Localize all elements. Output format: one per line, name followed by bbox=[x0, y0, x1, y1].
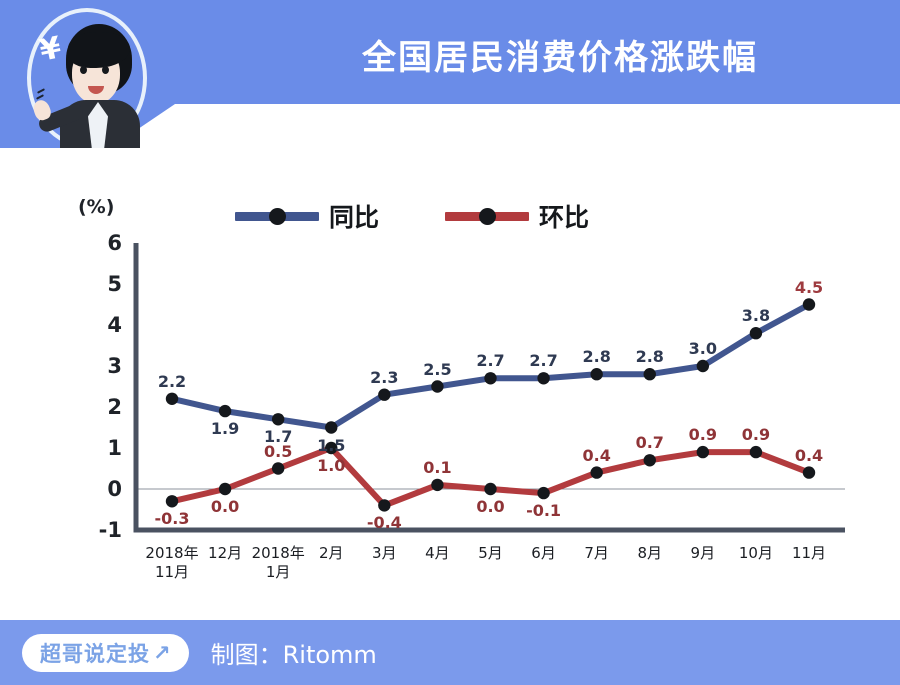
avatar-eye-left bbox=[80, 66, 87, 74]
footer-bar: 超哥说定投 ↗ 制图：Ritomm bbox=[0, 620, 900, 685]
data-label: 0.4 bbox=[569, 446, 625, 465]
y-axis-tick-label: 2 bbox=[78, 395, 122, 419]
data-label: 4.5 bbox=[781, 278, 837, 297]
data-label: 0.0 bbox=[197, 497, 253, 516]
page-title: 全国居民消费价格涨跌幅 bbox=[300, 30, 820, 79]
data-point[interactable] bbox=[166, 393, 178, 405]
data-point[interactable] bbox=[219, 483, 231, 495]
data-point[interactable] bbox=[537, 487, 549, 499]
data-point[interactable] bbox=[166, 495, 178, 507]
data-label: 0.0 bbox=[463, 497, 519, 516]
y-axis-tick-label: 3 bbox=[78, 354, 122, 378]
data-label: 1.5 bbox=[303, 436, 359, 455]
data-label: 1.9 bbox=[197, 419, 253, 438]
data-label: 0.9 bbox=[728, 425, 784, 444]
data-point[interactable] bbox=[590, 466, 602, 478]
data-point[interactable] bbox=[325, 421, 337, 433]
data-point[interactable] bbox=[272, 413, 284, 425]
data-label: 2.8 bbox=[622, 347, 678, 366]
data-point[interactable] bbox=[750, 327, 762, 339]
data-label: 2.7 bbox=[516, 351, 572, 370]
data-point[interactable] bbox=[378, 389, 390, 401]
data-point[interactable] bbox=[803, 298, 815, 310]
data-label: 0.5 bbox=[250, 442, 306, 461]
data-label: 2.2 bbox=[144, 372, 200, 391]
avatar-eye-right bbox=[102, 66, 109, 74]
y-axis-tick-label: -1 bbox=[78, 518, 122, 542]
data-label: 2.7 bbox=[463, 351, 519, 370]
header-banner: ¥ 全国居民消费价格涨跌幅 bbox=[0, 0, 900, 148]
data-label: 2.8 bbox=[569, 347, 625, 366]
arrow-up-right-icon: ↗ bbox=[153, 641, 171, 665]
data-point[interactable] bbox=[803, 466, 815, 478]
data-label: -0.4 bbox=[356, 513, 412, 532]
chart-container: (%) 同比 环比 2.21.91.71.52.32.52.72.72.82.8… bbox=[0, 148, 900, 608]
plot-area: 2.21.91.71.52.32.52.72.72.82.83.03.84.5-… bbox=[0, 148, 900, 608]
brand-badge-label: 超哥说定投 bbox=[40, 638, 150, 668]
data-point[interactable] bbox=[484, 372, 496, 384]
data-label: 3.0 bbox=[675, 339, 731, 358]
data-label: 0.9 bbox=[675, 425, 731, 444]
data-point[interactable] bbox=[644, 368, 656, 380]
y-axis-tick-label: 6 bbox=[78, 231, 122, 255]
data-point[interactable] bbox=[484, 483, 496, 495]
data-point[interactable] bbox=[590, 368, 602, 380]
data-label: 0.1 bbox=[409, 458, 465, 477]
data-label: 0.4 bbox=[781, 446, 837, 465]
avatar-sparkle-icon bbox=[36, 90, 50, 100]
data-label: 3.8 bbox=[728, 306, 784, 325]
data-point[interactable] bbox=[697, 446, 709, 458]
data-point[interactable] bbox=[537, 372, 549, 384]
data-point[interactable] bbox=[272, 462, 284, 474]
y-axis-tick-label: 0 bbox=[78, 477, 122, 501]
data-label: 1.0 bbox=[303, 456, 359, 475]
data-point[interactable] bbox=[697, 360, 709, 372]
data-point[interactable] bbox=[750, 446, 762, 458]
credit-label: 制图：Ritomm bbox=[211, 635, 377, 670]
data-point[interactable] bbox=[431, 380, 443, 392]
x-axis-tick-label: 11月 bbox=[771, 544, 847, 563]
data-point[interactable] bbox=[219, 405, 231, 417]
data-point[interactable] bbox=[378, 499, 390, 511]
avatar: ¥ bbox=[14, 4, 160, 150]
data-point[interactable] bbox=[431, 479, 443, 491]
data-label: 0.7 bbox=[622, 433, 678, 452]
data-label: 2.3 bbox=[356, 368, 412, 387]
data-label: 2.5 bbox=[409, 360, 465, 379]
data-point[interactable] bbox=[644, 454, 656, 466]
y-axis-tick-label: 1 bbox=[78, 436, 122, 460]
y-axis-tick-label: 5 bbox=[78, 272, 122, 296]
data-label: -0.1 bbox=[516, 501, 572, 520]
data-label: -0.3 bbox=[144, 509, 200, 528]
y-axis-tick-label: 4 bbox=[78, 313, 122, 337]
brand-badge[interactable]: 超哥说定投 ↗ bbox=[22, 634, 189, 672]
